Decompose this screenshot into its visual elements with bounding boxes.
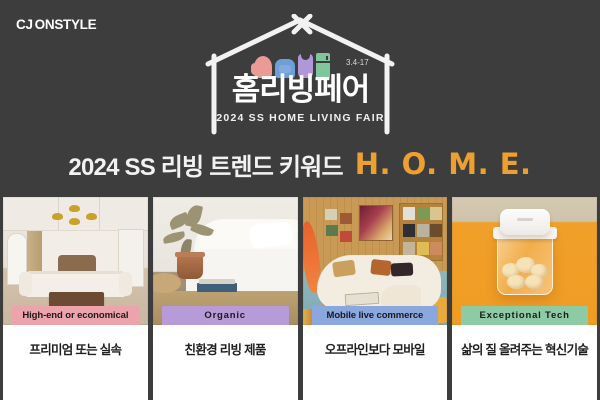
brand-cj-text: CJ xyxy=(16,17,33,32)
organic-bedroom-photo: Organic xyxy=(153,197,298,325)
trend-card-exceptional-tech[interactable]: Exceptional Tech 삶의 질 올려주는 혁신기술 xyxy=(452,197,597,400)
fair-date: 3.4-17 xyxy=(346,58,369,67)
status-badge: Mobile live commerce xyxy=(312,306,439,325)
card-caption: 오프라인보다 모바일 xyxy=(303,325,448,400)
trend-card-row: High-end or economical 프리미엄 또는 실속 Organ xyxy=(0,197,600,400)
card-caption: 프리미엄 또는 실속 xyxy=(3,325,148,400)
headline-main-text: 2024 SS 리빙 트렌드 키워드 xyxy=(68,147,342,182)
trend-card-mobile-live[interactable]: Mobile live commerce 오프라인보다 모바일 xyxy=(303,197,448,400)
brand-onstyle-text: ONSTYLE xyxy=(35,17,97,32)
card-caption: 삶의 질 올려주는 혁신기술 xyxy=(452,325,597,400)
status-badge: High-end or economical xyxy=(12,306,139,325)
classic-living-room-photo: High-end or economical xyxy=(3,197,148,325)
badge-label: Exceptional Tech xyxy=(480,310,570,321)
promo-banner: CJONSTYLE 3.4-17 홈리빙페어 2024 SS HOME LIVI… xyxy=(0,0,600,400)
card-caption-text: 프리미엄 또는 실속 xyxy=(29,339,121,358)
mobile-lounge-photo: Mobile live commerce xyxy=(303,197,448,325)
smart-container-photo: Exceptional Tech xyxy=(452,197,597,325)
trend-card-high-end[interactable]: High-end or economical 프리미엄 또는 실속 xyxy=(3,197,148,400)
status-badge: Exceptional Tech xyxy=(461,306,588,325)
card-caption-text: 오프라인보다 모바일 xyxy=(325,339,425,358)
badge-label: Mobile live commerce xyxy=(327,310,424,321)
fair-title-korean: 홈리빙페어 xyxy=(198,74,403,105)
home-living-fair-logo: 3.4-17 홈리빙페어 2024 SS HOME LIVING FAIR xyxy=(198,14,403,136)
card-caption-text: 친환경 리빙 제품 xyxy=(185,339,266,358)
headline: 2024 SS 리빙 트렌드 키워드 H. O. M. E. xyxy=(0,144,600,184)
card-caption: 친환경 리빙 제품 xyxy=(153,325,298,400)
badge-label: High-end or economical xyxy=(22,310,128,321)
cj-onstyle-logo[interactable]: CJONSTYLE xyxy=(16,17,96,32)
status-badge: Organic xyxy=(162,306,289,325)
headline-home-acronym: H. O. M. E. xyxy=(355,147,532,181)
badge-label: Organic xyxy=(204,310,246,321)
card-caption-text: 삶의 질 올려주는 혁신기술 xyxy=(461,339,588,358)
trend-card-organic[interactable]: Organic 친환경 리빙 제품 xyxy=(153,197,298,400)
fair-title-english: 2024 SS HOME LIVING FAIR xyxy=(198,112,403,124)
